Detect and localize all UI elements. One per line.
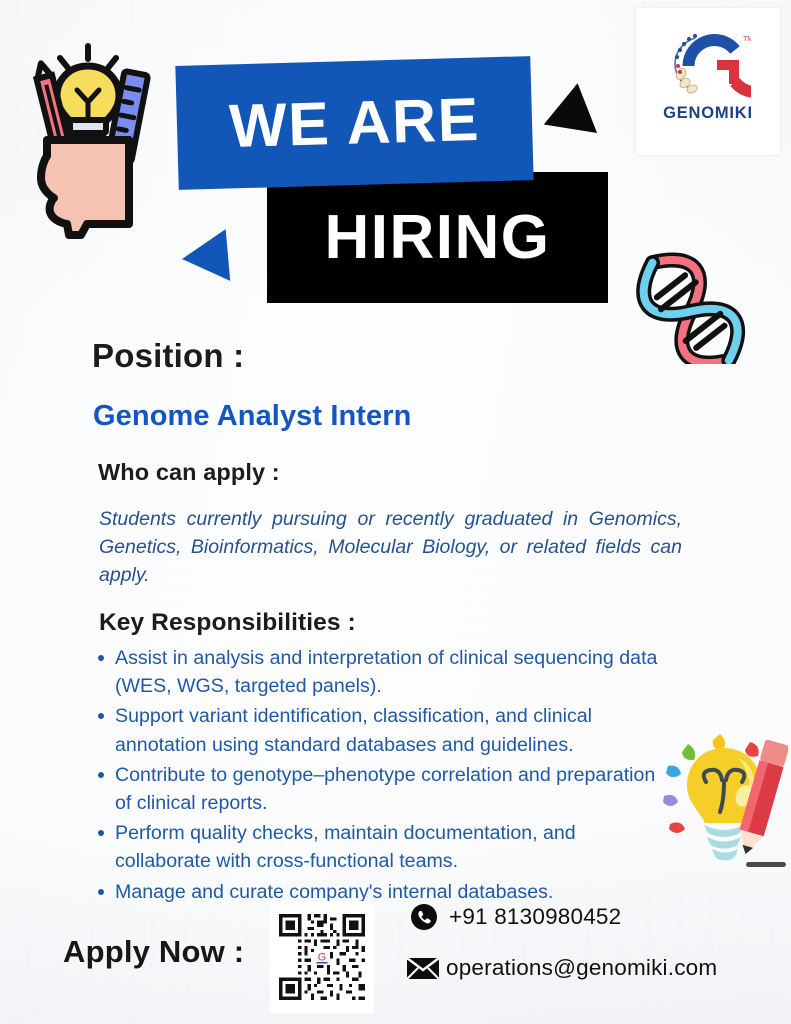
list-item: Contribute to genotype–phenotype correla… — [90, 761, 670, 817]
position-value: Genome Analyst Intern — [93, 400, 411, 433]
email-address: operations@genomiki.com — [446, 955, 717, 981]
who-can-apply-heading: Who can apply : — [98, 459, 280, 486]
poster-content: Position : Genome Analyst Intern Who can… — [0, 0, 791, 1024]
phone-number: +91 8130980452 — [449, 904, 621, 930]
who-can-apply-body: Students currently pursuing or recently … — [99, 505, 682, 589]
phone-icon — [410, 903, 438, 931]
hiring-poster: WE ARE HIRING — [0, 0, 791, 1024]
qr-code[interactable]: G — [270, 901, 374, 1013]
list-item: Support variant identification, classifi… — [90, 702, 670, 758]
position-heading: Position : — [92, 337, 244, 375]
envelope-icon — [406, 955, 440, 981]
list-item: Assist in analysis and interpretation of… — [90, 644, 670, 700]
key-responsibilities-heading: Key Responsibilities : — [99, 609, 356, 637]
contact-phone[interactable]: +91 8130980452 — [410, 903, 621, 931]
svg-text:G: G — [318, 951, 326, 963]
apply-now-label: Apply Now : — [63, 934, 244, 970]
contact-email[interactable]: operations@genomiki.com — [406, 955, 717, 981]
qr-code-icon[interactable]: G — [276, 911, 368, 1003]
key-responsibilities-list: Assist in analysis and interpretation of… — [90, 644, 670, 908]
list-item: Manage and curate company's internal dat… — [90, 878, 670, 906]
list-item: Perform quality checks, maintain documen… — [90, 819, 670, 875]
